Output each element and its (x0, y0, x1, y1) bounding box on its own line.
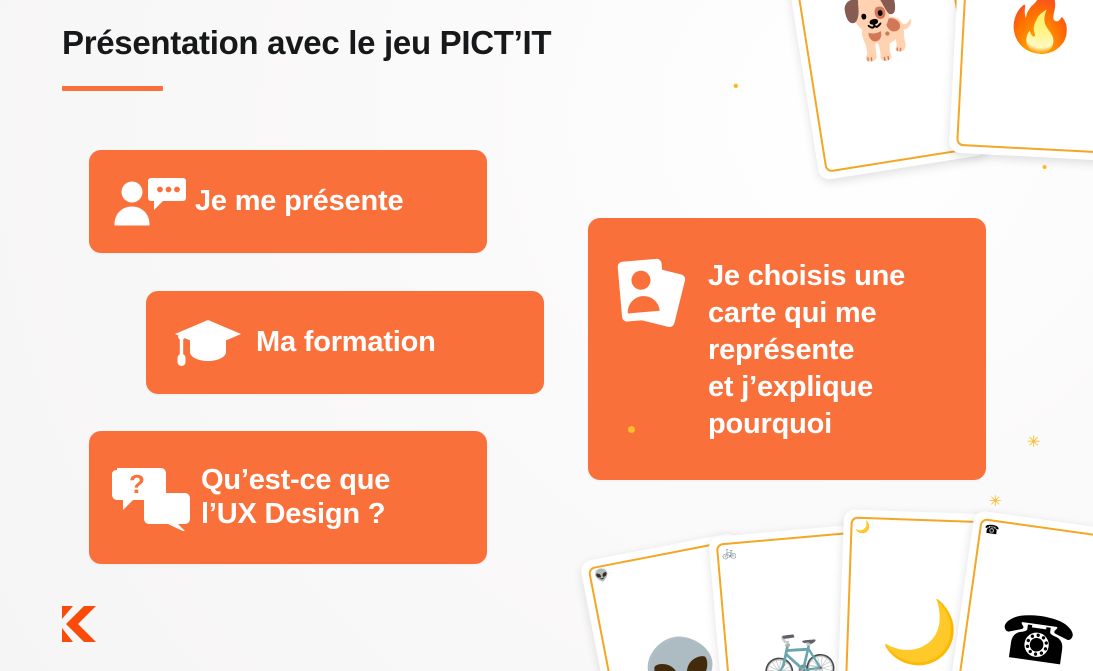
page-title: Présentation avec le jeu PICT’IT (62, 24, 551, 62)
card-mini-glyph: ☎ (984, 523, 1000, 537)
card-mini-glyph: 🌙 (855, 521, 870, 534)
sparkle-dot: • (1042, 160, 1047, 175)
sparkle-dot (628, 426, 635, 433)
panel-je-choisis-une-carte[interactable]: Je choisis une carte qui me représente e… (588, 218, 986, 480)
svg-text:?: ? (129, 469, 145, 499)
button-je-me-presente[interactable]: Je me présente (89, 150, 487, 253)
button-label: Qu’est-ce que l’UX Design ? (201, 464, 390, 531)
title-underline (62, 86, 163, 91)
sparkle-star: ✳ (989, 494, 1002, 509)
panel-label: Je choisis une carte qui me représente e… (708, 258, 905, 444)
button-quest-ce-que-lux-design[interactable]: ? Qu’est-ce que l’UX Design ? (89, 431, 487, 564)
sparkle-dot: • (733, 79, 739, 95)
card-mini-glyph: 👽 (593, 568, 610, 583)
card-mini-glyph: 🚲 (721, 546, 737, 559)
question-speech-bubbles-icon: ? (111, 465, 191, 531)
sparkle-star: ✳ (1027, 435, 1040, 451)
stacked-cards-person-icon (614, 256, 692, 332)
person-speech-bubble-icon (111, 176, 187, 228)
k-logo[interactable] (62, 606, 96, 642)
card-main-glyph: 🔥 (954, 0, 1093, 56)
button-ma-formation[interactable]: Ma formation (146, 291, 544, 394)
graduation-cap-icon (172, 316, 244, 370)
card-main-glyph: ☎ (954, 599, 1093, 671)
button-label: Je me présente (195, 185, 403, 219)
slide-canvas: 🐕 🐕 🐕 🔥 🔥 🔥 👽 👽 👽 🚲 🚲 🚲 🌙 🌙 🌙 ☎ ☎ ☎ • • … (0, 0, 1093, 671)
campfire-card: 🔥 🔥 🔥 (949, 0, 1093, 161)
button-label: Ma formation (256, 326, 436, 360)
